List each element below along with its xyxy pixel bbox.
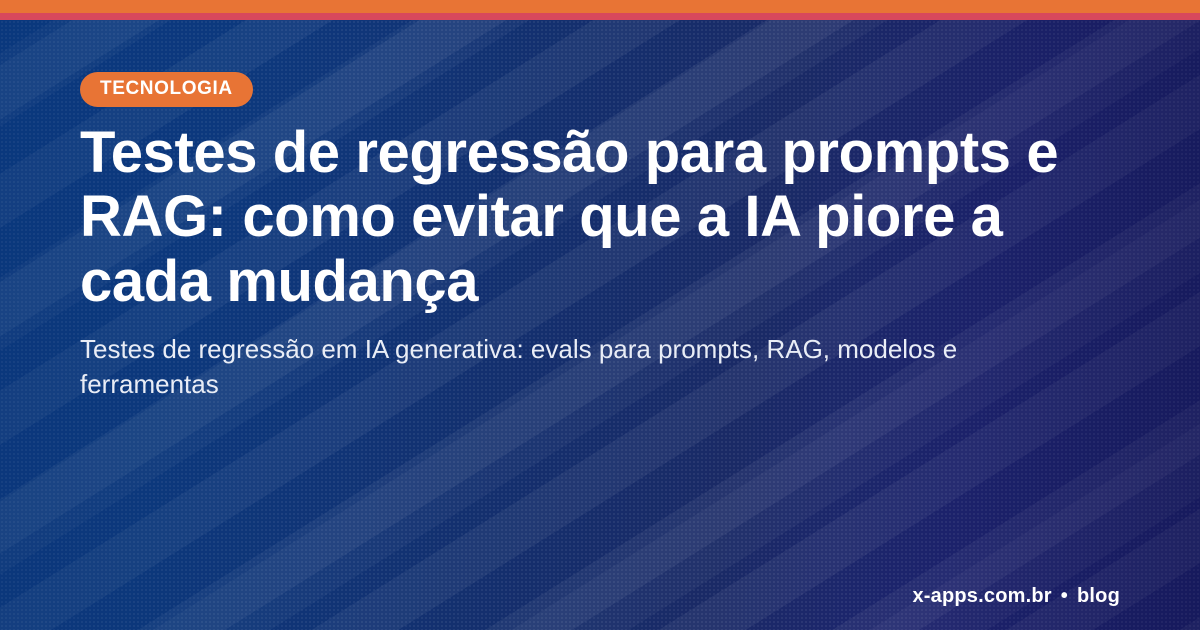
footer-branding: x-apps.com.br•blog — [912, 585, 1120, 608]
category-badge[interactable]: TECNOLOGIA — [80, 72, 253, 107]
footer-site-name[interactable]: x-apps.com.br — [912, 585, 1051, 607]
page-subtitle: Testes de regressão em IA generativa: ev… — [80, 332, 1065, 403]
footer-section-name[interactable]: blog — [1077, 585, 1120, 607]
card-content: TECNOLOGIA Testes de regressão para prom… — [80, 0, 1120, 630]
social-share-card: TECNOLOGIA Testes de regressão para prom… — [0, 0, 1200, 630]
top-accent-bar-red — [0, 13, 1200, 20]
top-accent-bar-orange — [0, 0, 1200, 13]
page-title: Testes de regressão para prompts e RAG: … — [80, 121, 1120, 314]
footer-separator-bullet: • — [1052, 585, 1077, 608]
